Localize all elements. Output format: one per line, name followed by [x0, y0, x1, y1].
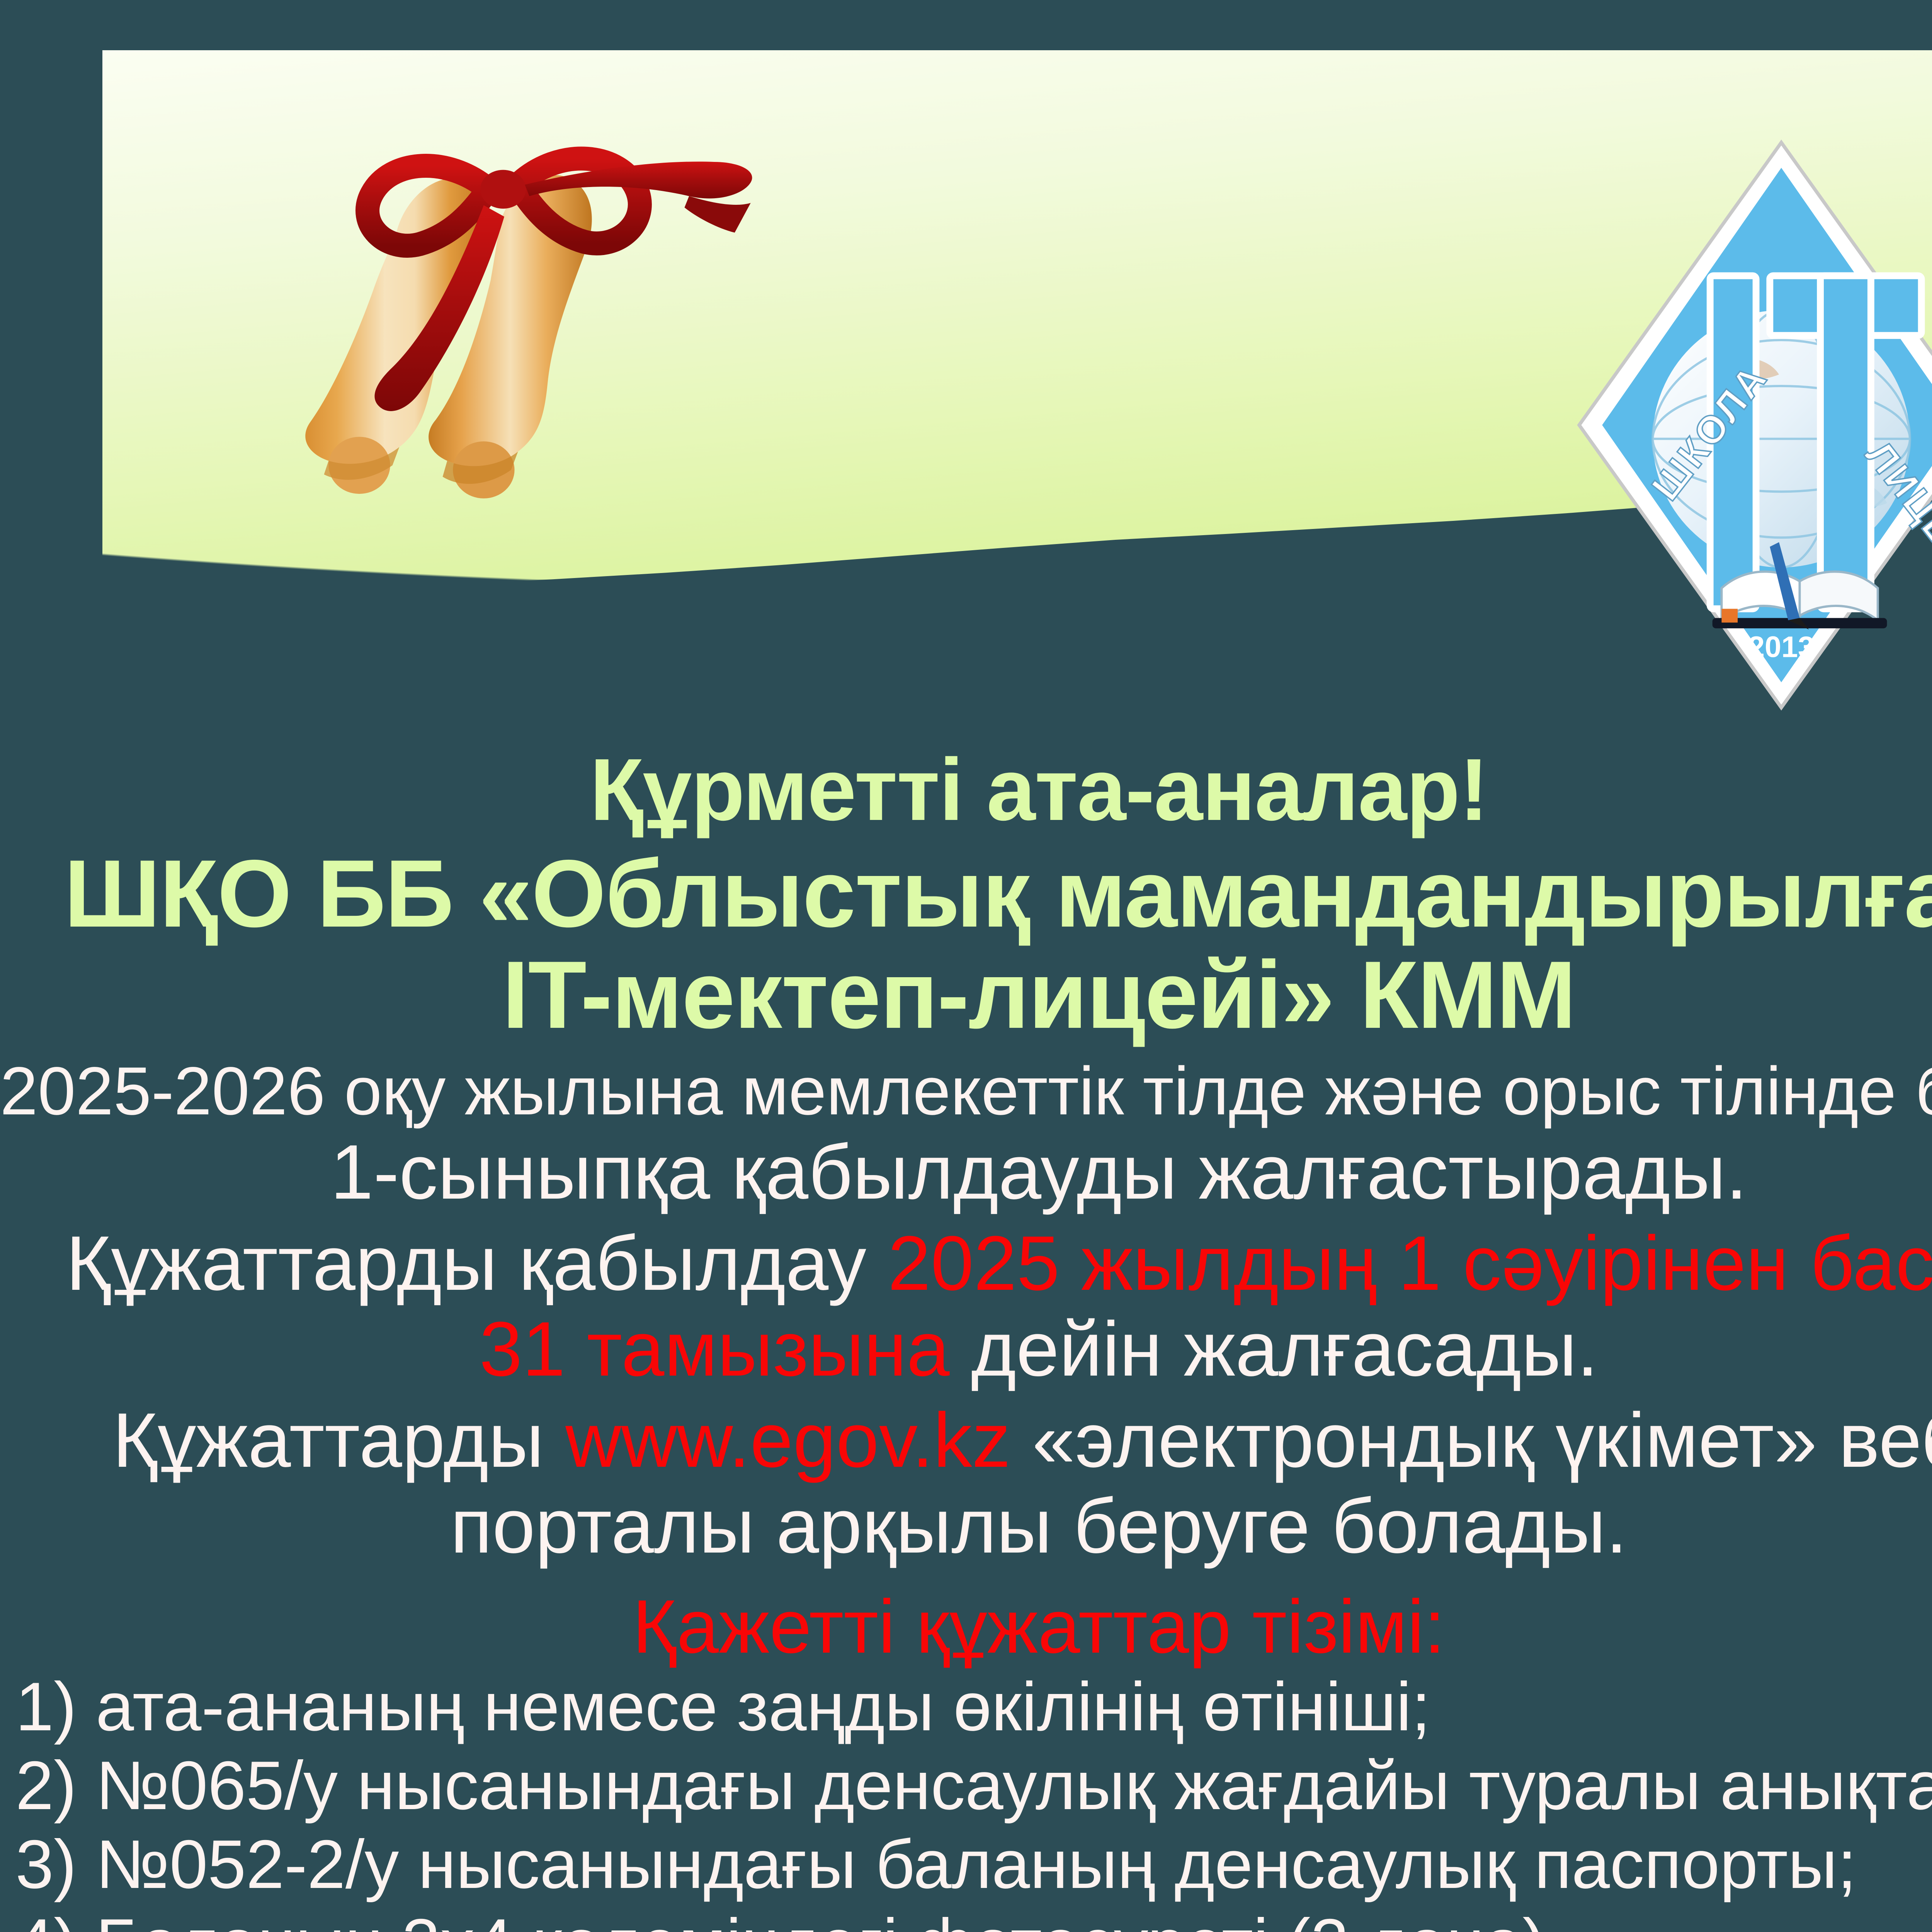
- intro-line-1: 2025-2026 оқу жылына мемлекеттік тілде ж…: [0, 1057, 1932, 1125]
- portal-prefix: Құжаттарды: [112, 1397, 565, 1483]
- documents-list: 1) ата-ананың немесе заңды өкілінің өтін…: [0, 1672, 1932, 1932]
- egov-link[interactable]: www.egov.kz: [565, 1397, 1010, 1483]
- portal-suffix: «электрондық үкімет» веб: [1011, 1397, 1932, 1483]
- acceptance-suffix: дейін жалғасады.: [950, 1306, 1599, 1392]
- acceptance-line-2: 31 тамызына дейін жалғасады.: [0, 1311, 1932, 1388]
- list-item: 4) Баланың 3х4 көлеміндегі фотосуреті (2…: [15, 1909, 1932, 1932]
- acceptance-date-end: 31 тамызына: [480, 1306, 950, 1392]
- acceptance-date-start: 2025 жылдың 1 сәуірінен баста: [888, 1220, 1932, 1306]
- list-item: 1) ата-ананың немесе заңды өкілінің өтін…: [15, 1672, 1932, 1741]
- intro-line-2: 1-сыныпқа қабылдауды жалғастырады.: [0, 1134, 1932, 1211]
- heading-line-3: IT-мектеп-лицейі» КММ: [0, 947, 1932, 1043]
- documents-title: Қажетті құжаттар тізімі:: [0, 1589, 1932, 1665]
- poster-body: Құрметті ата-аналар! ШҚО ББ «Облыстық ма…: [0, 746, 1932, 1932]
- logo-year: 2013: [1748, 630, 1815, 663]
- school-bells-icon: [214, 89, 794, 568]
- portal-line-1: Құжаттарды www.egov.kz «электрондық үкім…: [0, 1402, 1932, 1479]
- school-logo: ШКОЛА ЛИЦЕЙ 2013: [1575, 135, 1932, 715]
- portal-line-2: порталы арқылы беруге болады.: [0, 1488, 1932, 1565]
- list-item: 3) №052-2/у нысанындағы баланың денсаулы…: [15, 1830, 1932, 1899]
- header-banner: ШКОЛА ЛИЦЕЙ 2013: [102, 50, 1932, 591]
- heading-line-1: Құрметті ата-аналар!: [0, 746, 1932, 834]
- acceptance-prefix: Құжаттарды қабылдау: [66, 1220, 888, 1306]
- acceptance-line-1: Құжаттарды қабылдау 2025 жылдың 1 сәуірі…: [0, 1225, 1932, 1302]
- list-item: 2) №065/у нысанындағы денсаулық жағдайы …: [15, 1751, 1932, 1820]
- heading-line-2: ШҚО ББ «Облыстық мамандандырылған: [0, 845, 1932, 941]
